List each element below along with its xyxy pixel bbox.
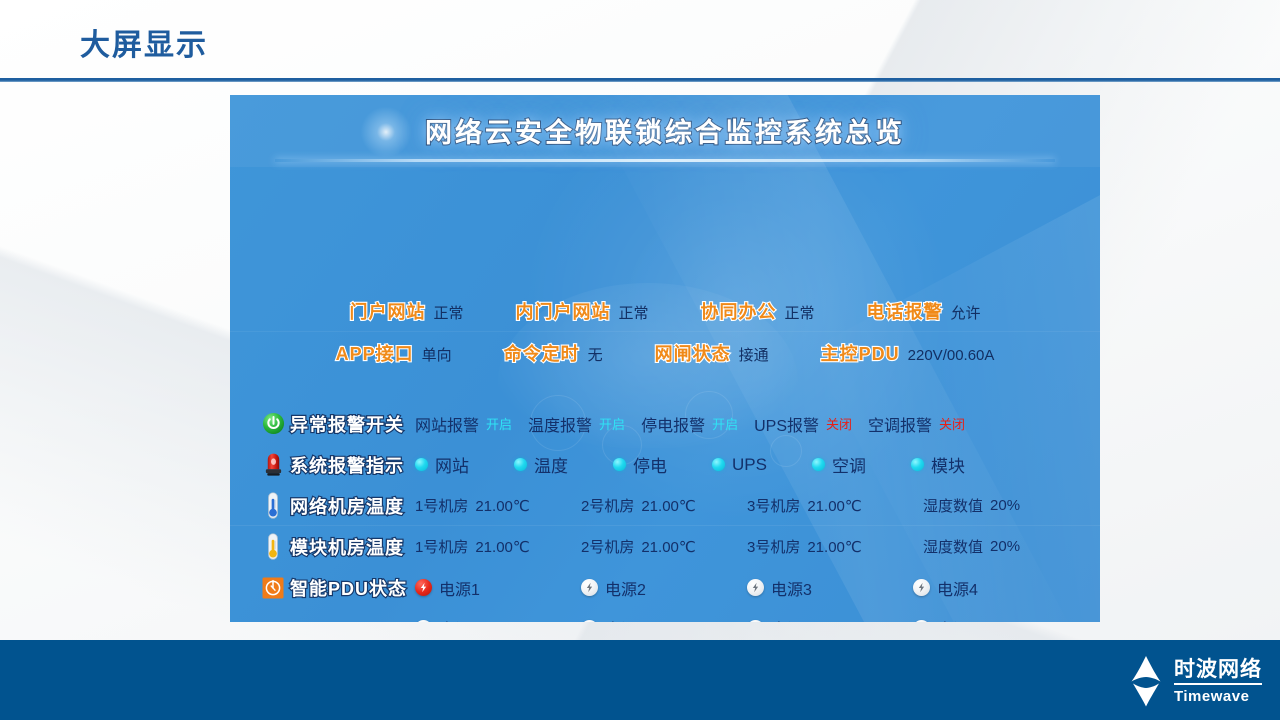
cell-value: 21.00℃ (475, 497, 529, 515)
status-item-main-pdu[interactable]: 主控PDU 220V/00.60A (821, 340, 995, 366)
cell-value: 20% (990, 538, 1020, 555)
row-label-module-room-temp: 模块机房温度 (290, 534, 415, 560)
pdu-outlet-3[interactable]: 电源3 (747, 576, 913, 600)
cell-key: 电源4 (937, 576, 978, 600)
row-pdu-status-continued: 电源5 电源6 电源7 (256, 608, 1084, 622)
row-label-network-room-temp: 网络机房温度 (290, 493, 415, 519)
indicator-ups[interactable]: UPS (712, 455, 767, 475)
row-label-alarm-switch: 异常报警开关 (290, 411, 415, 437)
pdu-icon (256, 577, 290, 599)
status-value: 220V/00.60A (908, 347, 995, 364)
status-value: 正常 (785, 302, 815, 323)
status-key: 门户网站 (349, 298, 425, 324)
cell-key: 3号机房 (747, 536, 800, 557)
status-item-collab-office[interactable]: 协同办公 正常 (701, 298, 815, 324)
page-title: 大屏显示 (80, 28, 208, 64)
monitor-dashboard-panel: 网络云安全物联锁综合监控系统总览 门户网站 正常 内门户网站 正常 协同办公 正… (230, 95, 1100, 622)
cell-value: 21.00℃ (641, 538, 695, 556)
net-room-2[interactable]: 2号机房 21.00℃ (581, 495, 747, 516)
panel-title-wrap: 网络云安全物联锁综合监控系统总览 (230, 111, 1100, 150)
switch-ups-alarm[interactable]: UPS报警 关闭 (754, 412, 852, 436)
pdu-outlet-1[interactable]: 电源1 (415, 576, 581, 600)
cell-key: 模块 (931, 452, 965, 477)
cell-key: 1号机房 (415, 536, 468, 557)
alarm-switch-cells: 网站报警 开启 温度报警 开启 停电报警 开启 UPS报警 关闭 空调报警 (415, 412, 1084, 436)
cell-key: 电源6 (605, 616, 646, 622)
status-dot (911, 458, 924, 471)
row-module-room-temp: 模块机房温度 1号机房 21.00℃ 2号机房 21.00℃ 3号机房 21.0… (256, 526, 1084, 567)
cell-value: 开启 (712, 414, 738, 433)
status-value: 允许 (951, 302, 981, 323)
pdu-outlet-4[interactable]: 电源4 (913, 576, 1079, 600)
pdu-cells-row1: 电源1 电源2 电源3 (415, 576, 1084, 600)
thermometer-blue-icon (256, 492, 290, 519)
status-dot (613, 458, 626, 471)
cell-key: 空调 (832, 452, 866, 477)
cell-value: 关闭 (826, 414, 852, 433)
cell-key: 电源2 (605, 576, 646, 600)
status-value: 正常 (618, 302, 648, 323)
status-value: 正常 (433, 302, 463, 323)
power-icon (256, 412, 290, 435)
cell-key: 电源7 (771, 616, 812, 622)
bolt-icon (415, 579, 432, 596)
mod-room-2[interactable]: 2号机房 21.00℃ (581, 536, 747, 557)
status-key: 主控PDU (821, 340, 900, 366)
pdu-outlet-5[interactable]: 电源5 (415, 616, 581, 622)
cell-key: 3号机房 (747, 495, 800, 516)
status-dot (812, 458, 825, 471)
cell-key: 电源8 (937, 616, 978, 622)
bolt-icon (581, 620, 598, 623)
mod-room-humidity[interactable]: 湿度数值 20% (923, 536, 1020, 557)
logo-name-en: Timewave (1174, 685, 1262, 704)
status-item-phone-alarm[interactable]: 电话报警 允许 (867, 298, 981, 324)
indicator-website[interactable]: 网站 (415, 452, 469, 477)
thermometer-yellow-icon (256, 533, 290, 560)
row-alarm-indicator: 系统报警指示 网站 温度 停电 UPS (256, 444, 1084, 485)
row-label-pdu-status: 智能PDU状态 (290, 575, 415, 601)
status-value: 接通 (739, 344, 769, 365)
cell-key: 停电 (633, 452, 667, 477)
cell-value: 21.00℃ (807, 497, 861, 515)
cell-key: 电源3 (771, 576, 812, 600)
switch-poweroff-alarm[interactable]: 停电报警 开启 (641, 412, 738, 436)
status-item-app-interface[interactable]: APP接口 单向 (336, 340, 452, 366)
bolt-icon (747, 579, 764, 596)
cell-value: 开启 (486, 414, 512, 433)
cell-key: 网站报警 (415, 412, 479, 436)
cell-key: 停电报警 (641, 412, 705, 436)
wave-logo-icon (1126, 652, 1166, 710)
pdu-outlet-7[interactable]: 电源7 (747, 616, 913, 622)
switch-temperature-alarm[interactable]: 温度报警 开启 (528, 412, 625, 436)
module-room-temp-cells: 1号机房 21.00℃ 2号机房 21.00℃ 3号机房 21.00℃ 湿度数值… (415, 536, 1084, 557)
top-status-row-1: 门户网站 正常 内门户网站 正常 协同办公 正常 电话报警 允许 (230, 298, 1100, 324)
pdu-outlet-6[interactable]: 电源6 (581, 616, 747, 622)
switch-aircon-alarm[interactable]: 空调报警 关闭 (868, 412, 965, 436)
cell-value: 开启 (599, 414, 625, 433)
status-dot (712, 458, 725, 471)
panel-title-divider (275, 159, 1055, 162)
alarm-indicator-cells: 网站 温度 停电 UPS 空调 (415, 452, 1084, 477)
pdu-outlet-8[interactable]: 电源8 (913, 616, 1079, 622)
bolt-icon (747, 620, 764, 623)
pdu-cells-row2: 电源5 电源6 电源7 (415, 616, 1084, 622)
status-key: APP接口 (336, 340, 414, 366)
status-key: 协同办公 (701, 298, 777, 324)
pdu-outlet-2[interactable]: 电源2 (581, 576, 747, 600)
bolt-icon (913, 579, 930, 596)
cell-key: 电源1 (439, 576, 480, 600)
status-item-internal-portal[interactable]: 内门户网站 正常 (515, 298, 648, 324)
cell-key: 电源5 (439, 616, 480, 622)
indicator-temperature[interactable]: 温度 (514, 452, 568, 477)
cell-value: 21.00℃ (807, 538, 861, 556)
cell-key: UPS报警 (754, 412, 819, 436)
cell-key: 1号机房 (415, 495, 468, 516)
panel-title: 网络云安全物联锁综合监控系统总览 (425, 111, 905, 150)
alarm-beacon-icon (256, 452, 290, 477)
cell-key: 温度 (534, 452, 568, 477)
net-room-humidity[interactable]: 湿度数值 20% (923, 495, 1020, 516)
network-room-temp-cells: 1号机房 21.00℃ 2号机房 21.00℃ 3号机房 21.00℃ 湿度数值… (415, 495, 1084, 516)
cell-key: 空调报警 (868, 412, 932, 436)
logo-text: 时波网络 Timewave (1174, 659, 1262, 704)
switch-website-alarm[interactable]: 网站报警 开启 (415, 412, 512, 436)
row-network-room-temp: 网络机房温度 1号机房 21.00℃ 2号机房 21.00℃ 3号机房 21.0… (256, 485, 1084, 526)
status-value: 无 (588, 344, 603, 365)
row-label-alarm-indicator: 系统报警指示 (290, 452, 415, 478)
status-key: 网闸状态 (655, 340, 731, 366)
status-item-portal[interactable]: 门户网站 正常 (349, 298, 463, 324)
indicator-module[interactable]: 模块 (911, 452, 965, 477)
cell-key: 网站 (435, 452, 469, 477)
logo-name-cn: 时波网络 (1174, 659, 1262, 685)
indicator-poweroff[interactable]: 停电 (613, 452, 667, 477)
status-dot (514, 458, 527, 471)
mod-room-3[interactable]: 3号机房 21.00℃ (747, 536, 913, 557)
data-rows: 异常报警开关 网站报警 开启 温度报警 开启 停电报警 开启 UPS报警 关闭 (256, 403, 1084, 622)
net-room-3[interactable]: 3号机房 21.00℃ (747, 495, 913, 516)
status-key: 命令定时 (504, 340, 580, 366)
bolt-icon (581, 579, 598, 596)
status-key: 内门户网站 (515, 298, 610, 324)
bolt-icon (913, 620, 930, 623)
cell-value: 20% (990, 497, 1020, 514)
cell-key: 2号机房 (581, 536, 634, 557)
status-item-gateway-state[interactable]: 网闸状态 接通 (655, 340, 769, 366)
row-pdu-status: 智能PDU状态 电源1 电源2 (256, 567, 1084, 608)
company-logo: 时波网络 Timewave (1126, 650, 1262, 712)
top-status-row-2: APP接口 单向 命令定时 无 网闸状态 接通 主控PDU 220V/00.60… (230, 340, 1100, 366)
bolt-icon (415, 620, 432, 623)
status-dot (415, 458, 428, 471)
indicator-aircon[interactable]: 空调 (812, 452, 866, 477)
cell-value: 21.00℃ (475, 538, 529, 556)
status-value: 单向 (422, 344, 452, 365)
cell-value: 关闭 (939, 414, 965, 433)
cell-value: 21.00℃ (641, 497, 695, 515)
cell-key: UPS (732, 455, 767, 475)
mod-room-1[interactable]: 1号机房 21.00℃ (415, 536, 581, 557)
row-alarm-switch: 异常报警开关 网站报警 开启 温度报警 开启 停电报警 开启 UPS报警 关闭 (256, 403, 1084, 444)
status-key: 电话报警 (867, 298, 943, 324)
title-divider (0, 78, 1280, 82)
footer-bar (0, 640, 1280, 720)
net-room-1[interactable]: 1号机房 21.00℃ (415, 495, 581, 516)
cell-key: 2号机房 (581, 495, 634, 516)
cell-key: 温度报警 (528, 412, 592, 436)
cell-key: 湿度数值 (923, 536, 983, 557)
status-item-command-timer[interactable]: 命令定时 无 (504, 340, 603, 366)
cell-key: 湿度数值 (923, 495, 983, 516)
